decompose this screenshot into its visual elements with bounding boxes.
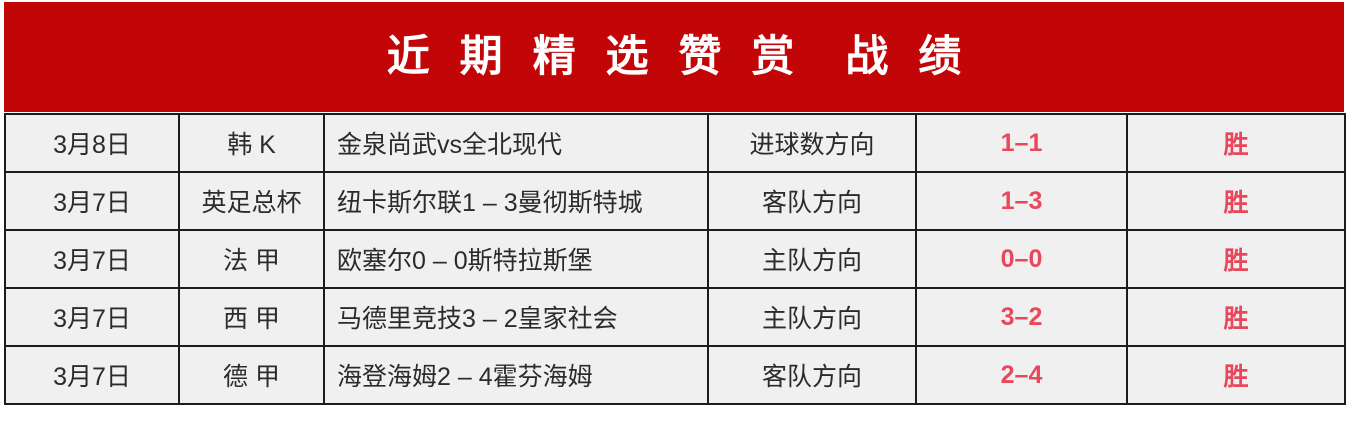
cell-match: 欧塞尔0 – 0斯特拉斯堡 (324, 230, 708, 288)
results-panel: 近 期 精 选 赞 赏 战 绩 3月8日 韩 K 金泉尚武vs全北现代 进球数方… (0, 0, 1346, 422)
table-row: 3月7日 法 甲 欧塞尔0 – 0斯特拉斯堡 主队方向 0–0 胜 (5, 230, 1345, 288)
table-row: 3月8日 韩 K 金泉尚武vs全北现代 进球数方向 1–1 胜 (5, 114, 1345, 172)
cell-result: 胜 (1127, 288, 1345, 346)
cell-score: 2–4 (916, 346, 1127, 404)
header-banner: 近 期 精 选 赞 赏 战 绩 (4, 2, 1344, 112)
cell-date: 3月7日 (5, 346, 179, 404)
recent-results-table: 3月8日 韩 K 金泉尚武vs全北现代 进球数方向 1–1 胜 3月7日 英足总… (4, 113, 1346, 405)
cell-league: 西 甲 (179, 288, 324, 346)
cell-match: 金泉尚武vs全北现代 (324, 114, 708, 172)
cell-league: 英足总杯 (179, 172, 324, 230)
cell-result: 胜 (1127, 346, 1345, 404)
cell-score: 1–3 (916, 172, 1127, 230)
cell-date: 3月7日 (5, 230, 179, 288)
cell-league: 德 甲 (179, 346, 324, 404)
cell-direction: 主队方向 (708, 288, 916, 346)
cell-result: 胜 (1127, 230, 1345, 288)
cell-match: 海登海姆2 – 4霍芬海姆 (324, 346, 708, 404)
cell-date: 3月8日 (5, 114, 179, 172)
cell-result: 胜 (1127, 114, 1345, 172)
cell-direction: 客队方向 (708, 172, 916, 230)
cell-match: 纽卡斯尔联1 – 3曼彻斯特城 (324, 172, 708, 230)
cell-score: 3–2 (916, 288, 1127, 346)
cell-score: 1–1 (916, 114, 1127, 172)
table-row: 3月7日 德 甲 海登海姆2 – 4霍芬海姆 客队方向 2–4 胜 (5, 346, 1345, 404)
table-row: 3月7日 英足总杯 纽卡斯尔联1 – 3曼彻斯特城 客队方向 1–3 胜 (5, 172, 1345, 230)
cell-score: 0–0 (916, 230, 1127, 288)
cell-league: 韩 K (179, 114, 324, 172)
cell-league: 法 甲 (179, 230, 324, 288)
cell-direction: 进球数方向 (708, 114, 916, 172)
cell-date: 3月7日 (5, 172, 179, 230)
cell-result: 胜 (1127, 172, 1345, 230)
cell-direction: 客队方向 (708, 346, 916, 404)
table-row: 3月7日 西 甲 马德里竞技3 – 2皇家社会 主队方向 3–2 胜 (5, 288, 1345, 346)
cell-match: 马德里竞技3 – 2皇家社会 (324, 288, 708, 346)
results-table-body: 3月8日 韩 K 金泉尚武vs全北现代 进球数方向 1–1 胜 3月7日 英足总… (5, 114, 1345, 404)
page-title: 近 期 精 选 赞 赏 战 绩 (378, 36, 971, 79)
cell-date: 3月7日 (5, 288, 179, 346)
cell-direction: 主队方向 (708, 230, 916, 288)
